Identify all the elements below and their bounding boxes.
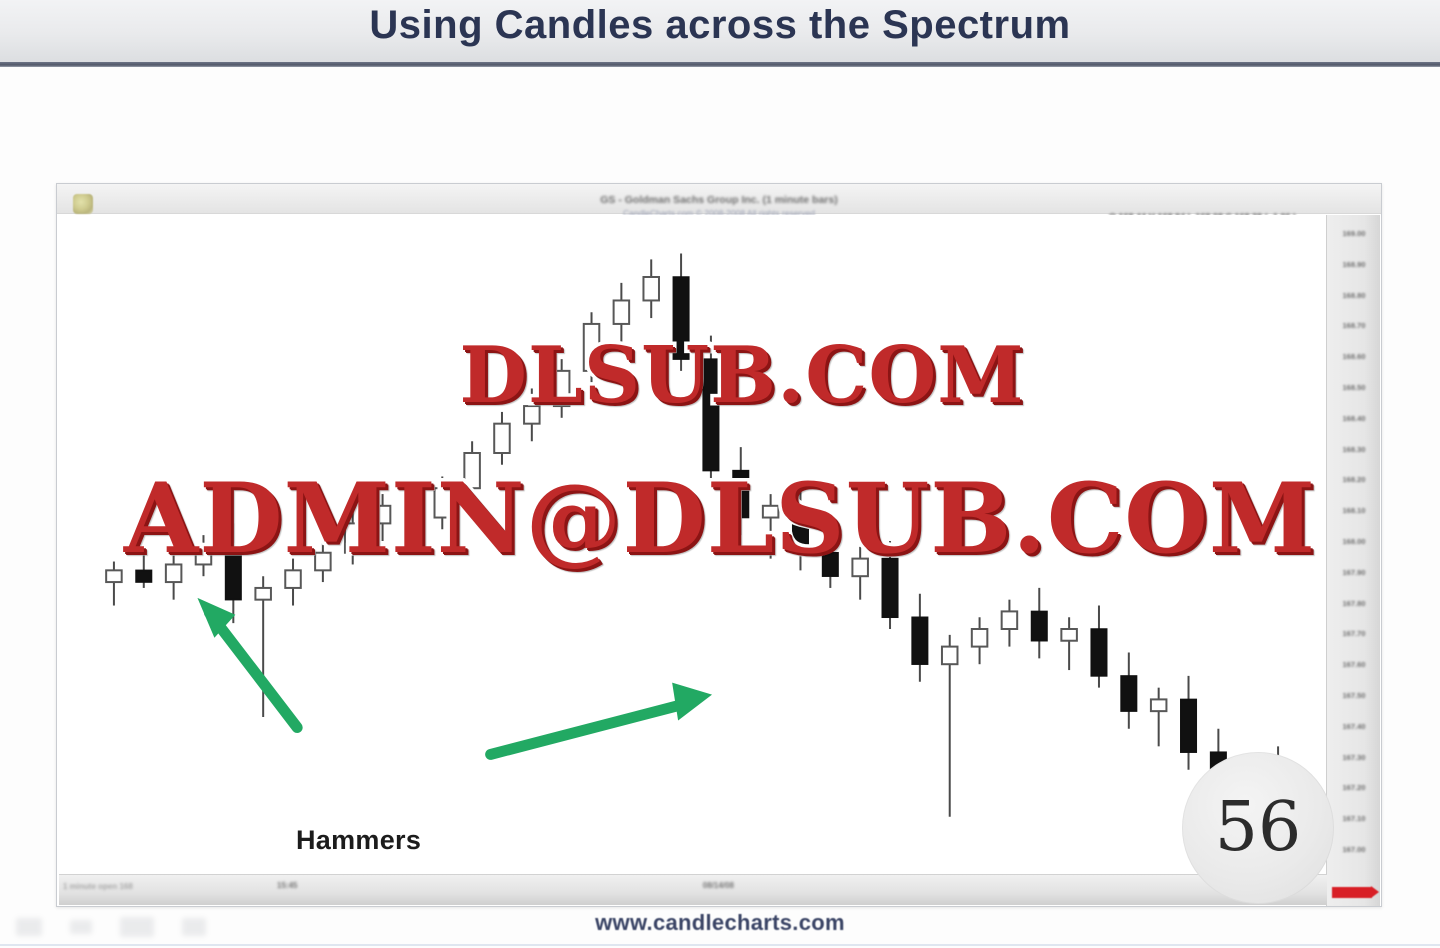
candlestick-bullish: [643, 259, 659, 318]
player-toolbar[interactable]: [16, 912, 246, 942]
watermark-line-1: DLSUB.COM: [0, 330, 1440, 421]
slide-canvas: Using Candles across the Spectrum GS - G…: [0, 0, 1440, 948]
time-axis-tick: 08/14/08: [703, 881, 734, 890]
slide-title-band: Using Candles across the Spectrum: [0, 0, 1440, 62]
candlestick-bullish: [255, 576, 271, 717]
page-number-badge: 56: [1182, 752, 1334, 904]
price-axis-tick: 167.50: [1327, 691, 1381, 700]
price-axis-tick: 167.20: [1327, 783, 1381, 792]
time-axis[interactable]: 15:4508/14/08: [59, 874, 1327, 905]
price-axis-tick: 167.40: [1327, 722, 1381, 731]
candlestick-bearish: [1032, 588, 1048, 658]
page-number: 56: [1215, 794, 1302, 862]
candlestick-bearish: [1121, 652, 1137, 728]
price-axis-tick: 167.10: [1327, 814, 1381, 823]
chart-symbol-header: GS - Goldman Sachs Group Inc. (1 minute …: [57, 194, 1381, 206]
bottom-rule: [0, 944, 1440, 946]
player-play-icon[interactable]: [70, 920, 92, 934]
candlestick-bearish: [1181, 676, 1197, 770]
price-axis-tick: 168.30: [1327, 445, 1381, 454]
player-prev-icon[interactable]: [16, 918, 42, 936]
time-axis-tick: 15:45: [277, 881, 297, 890]
watermark-line-2: ADMIN@DLSUB.COM: [0, 462, 1440, 575]
hammers-annotation-label: Hammers: [296, 825, 421, 856]
candlestick-bullish: [1151, 688, 1167, 747]
chart-corner-status: 1 minute open 168: [63, 882, 133, 891]
player-next-icon[interactable]: [182, 918, 206, 936]
player-slide-icon[interactable]: [120, 917, 154, 937]
price-axis-tick: 167.80: [1327, 599, 1381, 608]
price-axis-tick: 167.00: [1327, 845, 1381, 854]
last-price-arrow-icon: [1332, 887, 1372, 898]
candlestick-bullish: [972, 617, 988, 664]
page-title: Using Candles across the Spectrum: [0, 0, 1440, 52]
price-axis-tick: 167.60: [1327, 660, 1381, 669]
candlestick-bearish: [1091, 606, 1107, 688]
price-axis-tick: 169.00: [1327, 229, 1381, 238]
candlestick-bearish: [912, 594, 928, 682]
candlestick-bullish: [1002, 600, 1018, 647]
candlestick-bullish: [942, 635, 958, 817]
price-axis-tick: 168.80: [1327, 291, 1381, 300]
price-axis-tick: 168.90: [1327, 260, 1381, 269]
price-axis-tick: 167.70: [1327, 629, 1381, 638]
candlestick-bullish: [1061, 617, 1077, 670]
price-axis-tick: 167.30: [1327, 753, 1381, 762]
